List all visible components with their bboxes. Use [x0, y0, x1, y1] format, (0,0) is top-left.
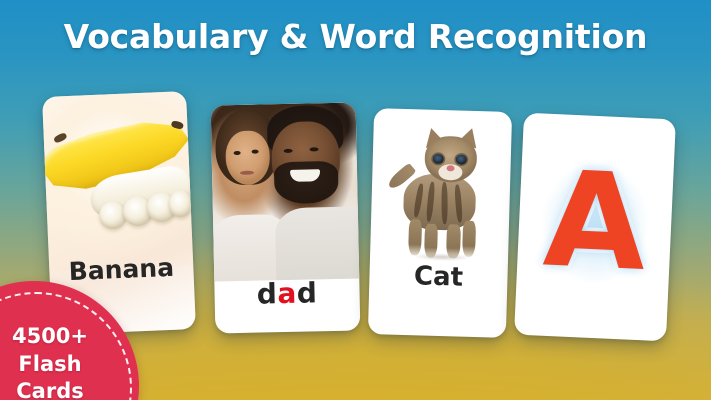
dad-beard-shape	[274, 161, 339, 204]
label-letter-a-highlight: a	[277, 277, 297, 310]
label-letter-d1: d	[256, 277, 277, 310]
badge-text: 4500+ Flash Cards	[0, 323, 115, 400]
flashcard-dad[interactable]: dad	[211, 103, 361, 334]
label-letter-d2: d	[296, 276, 317, 309]
flashcard-label-banana: Banana	[49, 252, 194, 287]
flashcard-letter-a[interactable]: A	[514, 113, 676, 342]
father-and-daughter-image	[211, 103, 360, 282]
badge-line-cards: Cards	[0, 378, 115, 400]
badge-line-flash: Flash	[0, 351, 115, 379]
promo-banner: Vocabulary & Word Recognition Banana	[0, 0, 711, 400]
cat-leg	[462, 221, 476, 257]
flashcard-label-cat: Cat	[369, 260, 508, 294]
badge-line-count: 4500+	[0, 323, 115, 351]
flashcard-cat[interactable]: Cat	[368, 108, 512, 338]
dad-shirt-shape	[275, 206, 359, 281]
page-title: Vocabulary & Word Recognition	[0, 17, 711, 56]
cat-nose-icon	[446, 165, 454, 171]
banana-image	[42, 91, 193, 257]
flashcard-label-letter-a: A	[516, 152, 674, 291]
kitten-image	[370, 114, 512, 278]
flashcard-label-dad: dad	[214, 275, 360, 311]
cat-stripe	[441, 182, 447, 224]
cat-leg	[408, 219, 422, 255]
